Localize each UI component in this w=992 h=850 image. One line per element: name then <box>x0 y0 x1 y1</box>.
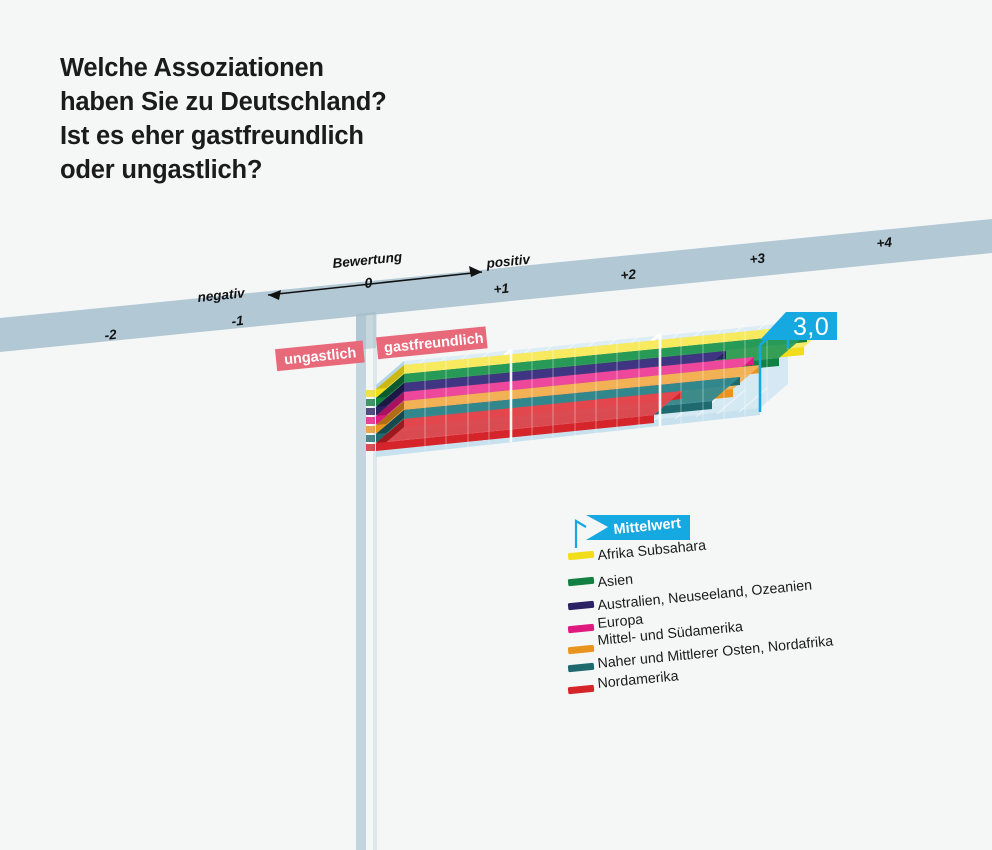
pole-label-gastfreundlich: gastfreundlich <box>376 326 488 359</box>
axis-tick-+4: +4 <box>876 234 893 251</box>
legend-label-afrika-subsahara: Afrika Subsahara <box>597 538 707 564</box>
bar-cap-swatches <box>366 390 375 451</box>
axis-label-bewertung: Bewertung <box>332 249 404 271</box>
legend-swatch-asien <box>568 577 595 586</box>
legend-swatch-nordamerika <box>568 685 595 694</box>
chart-figure: -2 -1 +1 +2 +3 +4 Bewertung 0 negativ po… <box>0 0 992 850</box>
legend-swatch-mittel-und-suedamerika <box>568 645 595 654</box>
infographic-canvas: Welche Assoziationen haben Sie zu Deutsc… <box>0 0 992 850</box>
vertical-guide-column <box>356 300 377 850</box>
axis-tick-+3: +3 <box>749 250 766 267</box>
axis-tick-+2: +2 <box>620 266 637 283</box>
axis-tick-+1: +1 <box>493 281 510 297</box>
legend-item-afrika-subsahara[interactable]: Afrika Subsahara <box>568 538 707 564</box>
axis-tick--1: -1 <box>231 313 244 329</box>
legend-item-asien[interactable]: Asien <box>568 572 634 591</box>
legend-swatch-australien-neuseeland-ozeanien <box>568 601 595 610</box>
legend-swatch-europa <box>568 624 595 633</box>
axis-zero-label: 0 <box>364 274 374 291</box>
legend-swatch-naher-und-mittlerer-osten-nordafrika <box>568 663 595 672</box>
pole-label-ungastlich: ungastlich <box>275 340 365 371</box>
mean-value-label: 3,0 <box>793 313 829 341</box>
legend-label-asien: Asien <box>597 572 634 591</box>
legend-label-nordamerika: Nordamerika <box>597 668 679 692</box>
legend: Mittelwert Afrika Subsahara Asien Austra… <box>568 515 834 694</box>
legend-item-nordamerika[interactable]: Nordamerika <box>568 668 680 694</box>
legend-swatch-afrika-subsahara <box>568 551 595 560</box>
axis-tick--2: -2 <box>104 327 118 343</box>
